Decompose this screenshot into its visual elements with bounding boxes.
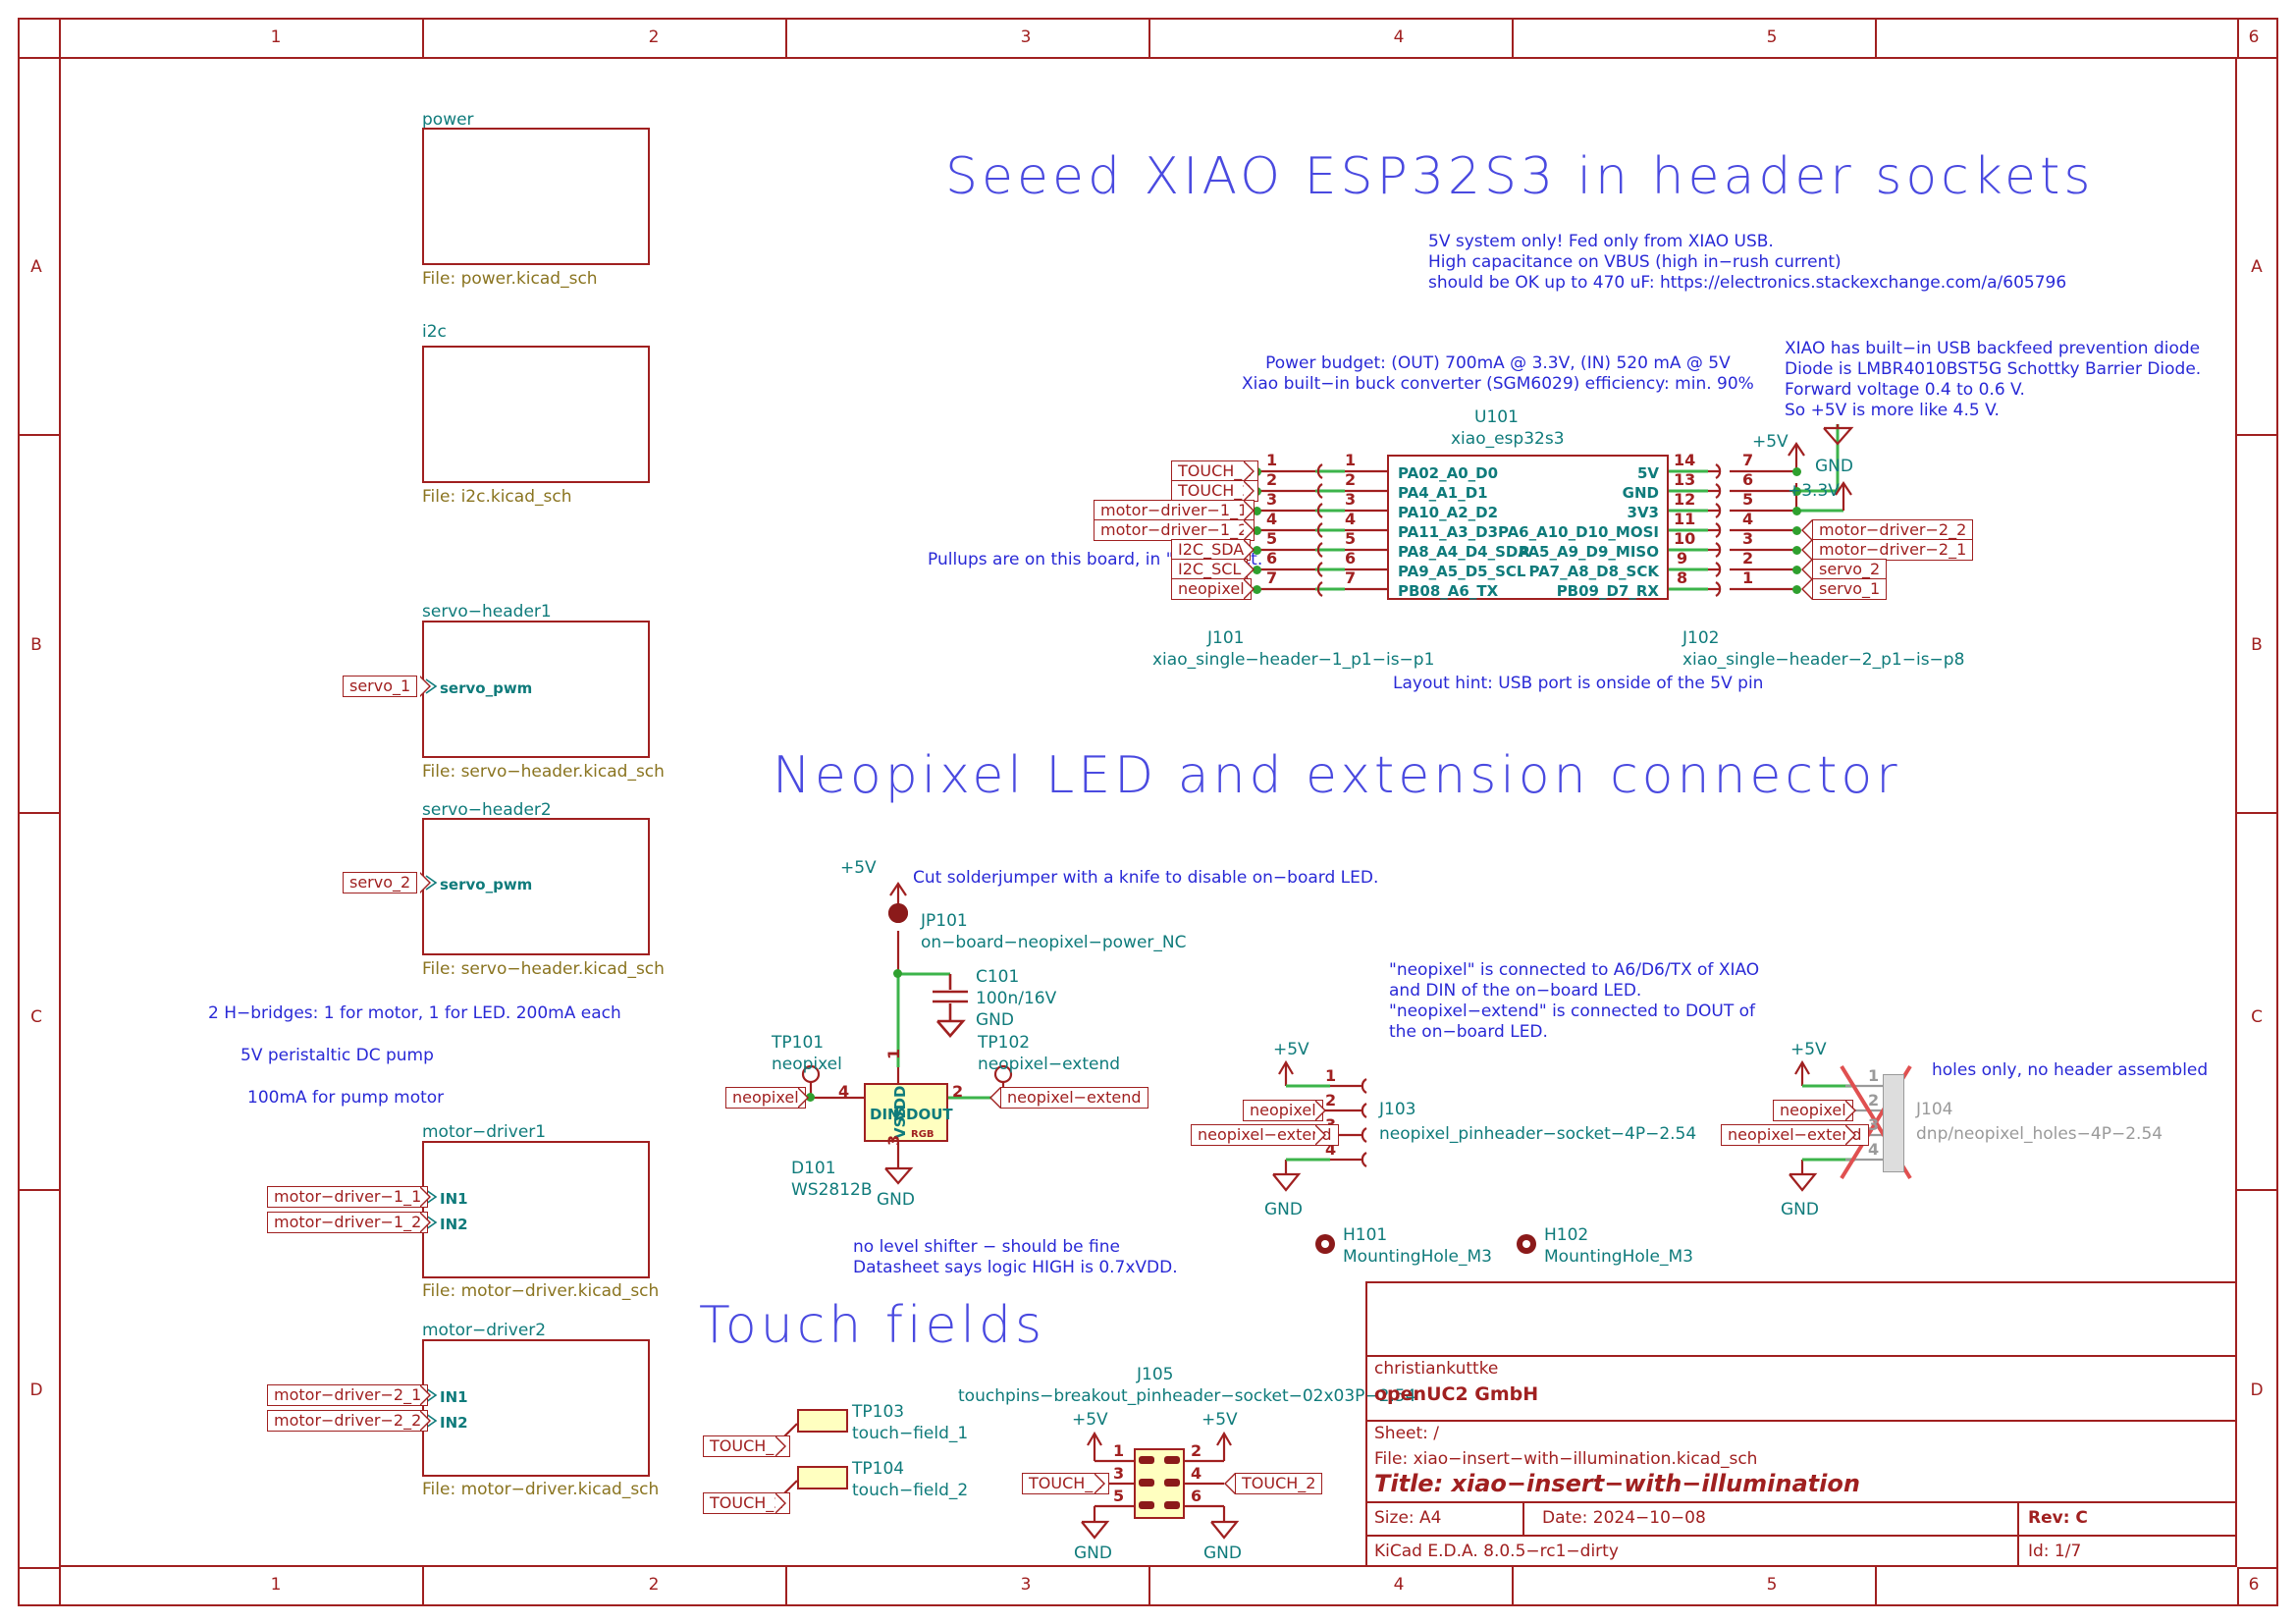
hlabel-motor-driver-1-1[interactable]: motor−driver−1_1 bbox=[267, 1186, 428, 1208]
power-label-5v-neopixel: +5V bbox=[840, 858, 877, 878]
j105-pin-num-6: 6 bbox=[1191, 1487, 1201, 1505]
mounting-hole-h101-icon bbox=[1315, 1234, 1335, 1254]
j105-ref: J105 bbox=[1137, 1365, 1173, 1385]
jp101-ref: JP101 bbox=[921, 911, 968, 932]
glabel-arrow-fill bbox=[1803, 580, 1812, 598]
tp103-ref: TP103 bbox=[852, 1402, 904, 1423]
power-label-5v-u101: +5V bbox=[1752, 432, 1789, 452]
j103-pin-num-2: 2 bbox=[1325, 1091, 1336, 1110]
frame-column-1-bottom: 1 bbox=[263, 1575, 289, 1595]
frame-tick bbox=[2237, 18, 2239, 57]
j103-value: neopixel_pinheader−socket−4P−2.54 bbox=[1379, 1124, 1696, 1145]
glabel-neopixel-j103[interactable]: neopixel bbox=[1243, 1100, 1323, 1121]
glabel-arrow-fill bbox=[1244, 521, 1253, 539]
c101-value: 100n/16V bbox=[976, 989, 1056, 1009]
sheet-pin-in1-md2: IN1 bbox=[440, 1388, 468, 1406]
j104-pin-num-4: 4 bbox=[1868, 1140, 1879, 1159]
u101-pin-num-1: 1 bbox=[1345, 451, 1356, 469]
j104-body[interactable] bbox=[1883, 1074, 1904, 1172]
sheet-pin-servo-pwm-2: servo_pwm bbox=[440, 876, 532, 893]
h102-ref: H102 bbox=[1544, 1225, 1588, 1246]
junction bbox=[893, 969, 902, 978]
j102-pin-num-6: 6 bbox=[1742, 470, 1753, 489]
sheet-label-servo-header1: servo−header1 bbox=[422, 602, 552, 622]
j102-pin-num-2: 2 bbox=[1742, 549, 1753, 568]
junction bbox=[1792, 566, 1801, 574]
glabel-neopixel-in[interactable]: neopixel bbox=[725, 1087, 806, 1109]
frame-tick bbox=[2237, 57, 2278, 59]
frame-tick bbox=[59, 18, 61, 57]
j102-pin-num-5: 5 bbox=[1742, 490, 1753, 509]
hlabel-servo-1[interactable]: servo_1 bbox=[343, 676, 417, 697]
j101-pin-num-1: 1 bbox=[1266, 451, 1277, 469]
power-label-5v-j105-left: +5V bbox=[1072, 1410, 1108, 1430]
glabel-motor-driver-2-1[interactable]: motor−driver−2_1 bbox=[1812, 539, 1973, 561]
j103-ref: J103 bbox=[1379, 1100, 1415, 1120]
frame-column-6-bottom: 6 bbox=[2241, 1575, 2267, 1595]
j101-pin-num-4: 4 bbox=[1266, 510, 1277, 528]
sheet-box-motor-driver1[interactable] bbox=[422, 1141, 650, 1278]
frame-tick bbox=[1875, 1567, 1877, 1606]
title-block-divider bbox=[1365, 1355, 2237, 1357]
frame-tick bbox=[422, 1567, 424, 1606]
j102-pin-num-1: 1 bbox=[1742, 568, 1753, 587]
hlabel-motor-driver-2-2[interactable]: motor−driver−2_2 bbox=[267, 1410, 428, 1432]
hlabel-arrow-fill bbox=[420, 677, 429, 695]
power-label-gnd-j104: GND bbox=[1781, 1200, 1819, 1219]
junction bbox=[1792, 507, 1801, 515]
j105-pin-num-2: 2 bbox=[1191, 1441, 1201, 1460]
frame-tick bbox=[59, 1567, 61, 1606]
note-holes-only: holes only, no header assembled bbox=[1932, 1060, 2208, 1081]
d101-pin-num-1: 1 bbox=[884, 1049, 903, 1059]
title-block-sheet: Sheet: / bbox=[1374, 1424, 1439, 1443]
title-block bbox=[1365, 1281, 2237, 1567]
u101-pin-num-8: 8 bbox=[1677, 568, 1687, 587]
hlabel-servo-2[interactable]: servo_2 bbox=[343, 872, 417, 893]
frame-tick bbox=[18, 434, 59, 436]
sheet-file-servo-header2: File: servo−header.kicad_sch bbox=[422, 959, 665, 979]
j104-pin-num-1: 1 bbox=[1868, 1066, 1879, 1085]
j105-pin-num-5: 5 bbox=[1113, 1487, 1124, 1505]
frame-tick bbox=[18, 812, 59, 814]
d101-pin-vss: VSS bbox=[891, 1104, 909, 1139]
frame-tick bbox=[2237, 1189, 2278, 1191]
heading-neopixel-section: Neopixel LED and extension connector bbox=[773, 746, 1901, 805]
heading-touch-section: Touch fields bbox=[699, 1296, 1045, 1355]
frame-tick bbox=[2237, 812, 2278, 814]
glabel-arrow-fill bbox=[775, 1437, 784, 1455]
j102-value: xiao_single−header−2_p1−is−p8 bbox=[1682, 650, 1964, 671]
u101-pin-name-12: 3V3 bbox=[1374, 504, 1659, 521]
sheet-pin-in2-md2: IN2 bbox=[440, 1414, 468, 1432]
glabel-neopixel-u101[interactable]: neopixel bbox=[1171, 578, 1252, 600]
u101-pin-name-13: GND bbox=[1374, 484, 1659, 502]
glabel-arrow-fill bbox=[798, 1089, 807, 1107]
u101-pin-name-10: PA5_A9_D9_MISO bbox=[1374, 543, 1659, 561]
frame-row-b: B bbox=[24, 635, 49, 655]
j101-pin-num-3: 3 bbox=[1266, 490, 1277, 509]
glabel-servo-1[interactable]: servo_1 bbox=[1812, 578, 1887, 600]
frame-row-c-right: C bbox=[2244, 1007, 2269, 1027]
note-usb-power: 5V system only! Fed only from XIAO USB. … bbox=[1428, 232, 2066, 294]
d101-pin-dout: DOUT bbox=[906, 1106, 953, 1123]
u101-pin-num-9: 9 bbox=[1677, 549, 1687, 568]
d101-rgb-label: RGB bbox=[911, 1129, 934, 1140]
title-block-id: Id: 1/7 bbox=[2028, 1542, 2081, 1561]
frame-row-d-right: D bbox=[2244, 1380, 2269, 1400]
glabel-servo-2[interactable]: servo_2 bbox=[1812, 559, 1887, 580]
note-pump: 5V peristaltic DC pump bbox=[240, 1046, 434, 1066]
frame-tick bbox=[18, 1189, 59, 1191]
frame-column-3-bottom: 3 bbox=[1013, 1575, 1039, 1595]
junction bbox=[1792, 546, 1801, 555]
hlabel-arrow-fill bbox=[420, 874, 429, 892]
sheet-file-motor-driver2: File: motor−driver.kicad_sch bbox=[422, 1480, 659, 1499]
j104-pin-num-2: 2 bbox=[1868, 1091, 1879, 1110]
u101-pin-name-9: PA7_A8_D8_SCK bbox=[1374, 563, 1659, 580]
title-block-eda: KiCad E.D.A. 8.0.5−rc1−dirty bbox=[1374, 1542, 1619, 1561]
glabel-arrow-fill bbox=[1315, 1102, 1324, 1119]
u101-pin-name-11: PA6_A10_D10_MOSI bbox=[1374, 523, 1659, 541]
sheet-box-power[interactable] bbox=[422, 128, 650, 265]
j105-value: touchpins−breakout_pinheader−socket−02x0… bbox=[958, 1386, 1416, 1407]
note-backfeed-diode: XIAO has built−in USB backfeed preventio… bbox=[1785, 339, 2201, 421]
glabel-motor-driver-1-2[interactable]: motor−driver−1_2 bbox=[1094, 519, 1255, 541]
sheet-label-i2c: i2c bbox=[422, 322, 447, 342]
glabel-arrow-fill bbox=[1244, 580, 1253, 598]
hlabel-arrow-fill bbox=[420, 1188, 429, 1206]
c101-gnd: GND bbox=[976, 1010, 1014, 1031]
u101-pin-num-10: 10 bbox=[1674, 529, 1695, 548]
frame-tick bbox=[785, 1567, 787, 1606]
frame-row-c: C bbox=[24, 1007, 49, 1027]
u101-pin-num-7: 7 bbox=[1345, 568, 1356, 587]
note-layout-hint: Layout hint: USB port is onside of the 5… bbox=[1393, 674, 1763, 694]
d101-pin-num-2: 2 bbox=[952, 1082, 963, 1101]
sheet-label-motor-driver1: motor−driver1 bbox=[422, 1122, 546, 1142]
glabel-arrow-fill bbox=[1803, 521, 1812, 539]
title-block-divider bbox=[1365, 1535, 2237, 1537]
power-label-5v-j103: +5V bbox=[1273, 1040, 1309, 1059]
u101-pin-num-11: 11 bbox=[1674, 510, 1695, 528]
glabel-neopixel-j104[interactable]: neopixel bbox=[1773, 1100, 1853, 1121]
glabel-arrow-fill bbox=[1315, 1126, 1324, 1144]
glabel-neopixel-extend-out[interactable]: neopixel−extend bbox=[1000, 1087, 1148, 1109]
glabel-arrow-fill bbox=[1845, 1126, 1854, 1144]
note-h-bridges: 2 H−bridges: 1 for motor, 1 for LED. 200… bbox=[208, 1003, 621, 1024]
sheet-label-power: power bbox=[422, 110, 474, 130]
frame-column-5-bottom: 5 bbox=[1759, 1575, 1785, 1595]
glabel-arrow-fill bbox=[1095, 1475, 1103, 1492]
title-block-rev: Rev: C bbox=[2028, 1508, 2088, 1528]
glabel-motor-driver-2-2[interactable]: motor−driver−2_2 bbox=[1812, 519, 1973, 541]
u101-pin-num-13: 13 bbox=[1674, 470, 1695, 489]
tp102-value: neopixel−extend bbox=[978, 1055, 1120, 1075]
j102-pin-num-4: 4 bbox=[1742, 510, 1753, 528]
title-block-date: Date: 2024−10−08 bbox=[1542, 1508, 1706, 1528]
sheet-file-motor-driver1: File: motor−driver.kicad_sch bbox=[422, 1281, 659, 1301]
power-label-gnd-u101: GND bbox=[1815, 457, 1853, 476]
j104-value: dnp/neopixel_holes−4P−2.54 bbox=[1916, 1124, 2163, 1145]
j105-pin-num-3: 3 bbox=[1113, 1464, 1124, 1483]
frame-tick bbox=[18, 1567, 59, 1569]
junction bbox=[1792, 526, 1801, 535]
j105-pin-num-4: 4 bbox=[1191, 1464, 1201, 1483]
power-label-gnd-j105-left: GND bbox=[1074, 1543, 1112, 1563]
note-pump-current: 100mA for pump motor bbox=[247, 1088, 444, 1109]
glabel-arrow-fill bbox=[991, 1089, 1000, 1107]
tp103-value: touch−field_1 bbox=[852, 1424, 968, 1444]
hlabel-motor-driver-1-2[interactable]: motor−driver−1_2 bbox=[267, 1212, 428, 1233]
u101-pin-name-8: PB09_D7_RX bbox=[1374, 582, 1659, 600]
frame-tick bbox=[1148, 18, 1150, 57]
frame-column-5: 5 bbox=[1759, 27, 1785, 47]
frame-row-a: A bbox=[24, 257, 49, 277]
glabel-i2c-sda[interactable]: I2C_SDA bbox=[1171, 539, 1251, 561]
d101-gnd: GND bbox=[877, 1190, 915, 1211]
u101-ref: U101 bbox=[1474, 407, 1519, 428]
title-block-size: Size: A4 bbox=[1374, 1508, 1441, 1528]
hlabel-arrow-fill bbox=[420, 1214, 429, 1231]
frame-column-2: 2 bbox=[641, 27, 667, 47]
mounting-hole-h102-icon bbox=[1517, 1234, 1536, 1254]
j101-pin-num-7: 7 bbox=[1266, 568, 1277, 587]
j105-body[interactable] bbox=[1134, 1448, 1185, 1519]
j104-pin-num-3: 3 bbox=[1868, 1115, 1879, 1134]
frame-row-d: D bbox=[24, 1380, 49, 1400]
glabel-arrow-fill bbox=[1244, 482, 1253, 500]
title-block-divider bbox=[1365, 1501, 2237, 1503]
sheet-label-servo-header2: servo−header2 bbox=[422, 800, 552, 820]
glabel-motor-driver-1-1[interactable]: motor−driver−1_1 bbox=[1094, 500, 1255, 521]
sheet-box-motor-driver2[interactable] bbox=[422, 1339, 650, 1477]
tp104-ref: TP104 bbox=[852, 1459, 904, 1480]
glabel-arrow-fill bbox=[1803, 541, 1812, 559]
title-block-title: Title: xiao−insert−with−illumination bbox=[1374, 1470, 1860, 1497]
h102-value: MountingHole_M3 bbox=[1544, 1247, 1693, 1268]
frame-column-6: 6 bbox=[2241, 27, 2267, 47]
frame-tick bbox=[2237, 1567, 2239, 1606]
j103-pin-num-1: 1 bbox=[1325, 1066, 1336, 1085]
frame-column-3: 3 bbox=[1013, 27, 1039, 47]
j102-pin-num-7: 7 bbox=[1742, 451, 1753, 469]
title-block-file: File: xiao−insert−with−illumination.kica… bbox=[1374, 1449, 1757, 1469]
kicad-schematic-sheet: 1 2 3 4 5 6 1 2 3 4 5 6 A B C D A B C D … bbox=[0, 0, 2296, 1624]
sheet-label-motor-driver2: motor−driver2 bbox=[422, 1321, 546, 1340]
u101-pin-num-6: 6 bbox=[1345, 549, 1356, 568]
d101-value: WS2812B bbox=[791, 1180, 873, 1201]
title-block-company: openUC2 GmbH bbox=[1374, 1383, 1538, 1405]
frame-tick bbox=[1148, 1567, 1150, 1606]
u101-pin-num-12: 12 bbox=[1674, 490, 1695, 509]
h101-value: MountingHole_M3 bbox=[1343, 1247, 1492, 1268]
tp104-value: touch−field_2 bbox=[852, 1481, 968, 1501]
note-level-shifter: no level shifter − should be fine Datash… bbox=[853, 1237, 1178, 1278]
title-block-divider bbox=[2017, 1501, 2019, 1567]
heading-xiao-section: Seeed XIAO ESP32S3 in header sockets bbox=[945, 147, 2095, 206]
frame-column-4-bottom: 4 bbox=[1386, 1575, 1412, 1595]
tp101-ref: TP101 bbox=[772, 1033, 824, 1054]
title-block-author: christiankuttke bbox=[1374, 1359, 1498, 1379]
u101-pin-name-14: 5V bbox=[1374, 464, 1659, 482]
u101-pin-num-2: 2 bbox=[1345, 470, 1356, 489]
d101-ref: D101 bbox=[791, 1159, 836, 1179]
junction bbox=[1792, 467, 1801, 476]
tp101-value: neopixel bbox=[772, 1055, 842, 1075]
frame-tick bbox=[2237, 1567, 2278, 1569]
sheet-file-power: File: power.kicad_sch bbox=[422, 269, 598, 289]
glabel-arrow-fill bbox=[1226, 1475, 1235, 1492]
power-label-3v3-u101: +3.3V bbox=[1788, 481, 1840, 501]
frame-tick bbox=[1875, 18, 1877, 57]
power-label-5v-j104: +5V bbox=[1790, 1040, 1827, 1059]
note-neopixel-net: "neopixel" is connected to A6/D6/TX of X… bbox=[1389, 960, 1759, 1043]
frame-tick bbox=[1512, 1567, 1514, 1606]
sheet-box-i2c[interactable] bbox=[422, 346, 650, 483]
j101-pin-num-6: 6 bbox=[1266, 549, 1277, 568]
note-power-budget: Power budget: (OUT) 700mA @ 3.3V, (IN) 5… bbox=[1242, 353, 1754, 395]
note-solderjumper: Cut solderjumper with a knife to disable… bbox=[913, 868, 1378, 889]
d101-pin-num-4: 4 bbox=[838, 1082, 849, 1101]
glabel-arrow-fill bbox=[1244, 541, 1253, 559]
glabel-arrow-fill bbox=[1244, 502, 1253, 519]
u101-pin-num-3: 3 bbox=[1345, 490, 1356, 509]
glabel-arrow-fill bbox=[1244, 561, 1253, 578]
tp103-pad[interactable] bbox=[797, 1409, 848, 1433]
u101-pin-num-14: 14 bbox=[1674, 451, 1695, 469]
c101-ref: C101 bbox=[976, 967, 1019, 988]
power-label-5v-j105-right: +5V bbox=[1201, 1410, 1238, 1430]
jp101-value: on−board−neopixel−power_NC bbox=[921, 933, 1187, 953]
j101-pin-num-2: 2 bbox=[1266, 470, 1277, 489]
glabel-arrow-fill bbox=[1845, 1102, 1854, 1119]
title-block-divider bbox=[1365, 1420, 2237, 1422]
sheet-file-servo-header1: File: servo−header.kicad_sch bbox=[422, 762, 665, 782]
h101-ref: H101 bbox=[1343, 1225, 1387, 1246]
hlabel-arrow-fill bbox=[420, 1386, 429, 1404]
frame-column-1: 1 bbox=[263, 27, 289, 47]
tp104-pad[interactable] bbox=[797, 1466, 848, 1489]
frame-tick bbox=[422, 18, 424, 57]
hlabel-motor-driver-2-1[interactable]: motor−driver−2_1 bbox=[267, 1384, 428, 1406]
glabel-arrow-fill bbox=[775, 1494, 784, 1512]
frame-tick bbox=[1512, 18, 1514, 57]
frame-column-2-bottom: 2 bbox=[641, 1575, 667, 1595]
j102-pin-num-3: 3 bbox=[1742, 529, 1753, 548]
j104-ref: J104 bbox=[1916, 1100, 1952, 1120]
sheet-file-i2c: File: i2c.kicad_sch bbox=[422, 487, 571, 507]
tp102-ref: TP102 bbox=[978, 1033, 1030, 1054]
j101-ref: J101 bbox=[1207, 628, 1244, 649]
glabel-i2c-scl[interactable]: I2C_SCL bbox=[1171, 559, 1248, 580]
hlabel-arrow-fill bbox=[420, 1412, 429, 1430]
j101-pin-num-5: 5 bbox=[1266, 529, 1277, 548]
frame-column-4: 4 bbox=[1386, 27, 1412, 47]
frame-row-b-right: B bbox=[2244, 635, 2269, 655]
sheet-pin-in2-md1: IN2 bbox=[440, 1216, 468, 1233]
sheet-pin-servo-pwm-1: servo_pwm bbox=[440, 679, 532, 697]
sheet-pin-in1-md1: IN1 bbox=[440, 1190, 468, 1208]
power-label-gnd-j105-right: GND bbox=[1203, 1543, 1242, 1563]
title-block-divider bbox=[1522, 1501, 1524, 1535]
j105-pin-num-1: 1 bbox=[1113, 1441, 1124, 1460]
junction bbox=[1792, 585, 1801, 594]
frame-tick bbox=[785, 18, 787, 57]
j102-ref: J102 bbox=[1682, 628, 1719, 649]
u101-value: xiao_esp32s3 bbox=[1451, 429, 1565, 450]
frame-tick bbox=[2237, 434, 2278, 436]
frame-row-a-right: A bbox=[2244, 257, 2269, 277]
glabel-arrow-fill bbox=[1244, 462, 1253, 480]
power-label-gnd-j103: GND bbox=[1264, 1200, 1303, 1219]
d101-pin-num-3: 3 bbox=[884, 1135, 903, 1146]
u101-pin-num-5: 5 bbox=[1345, 529, 1356, 548]
u101-pin-num-4: 4 bbox=[1345, 510, 1356, 528]
frame-tick bbox=[18, 57, 59, 59]
j101-value: xiao_single−header−1_p1−is−p1 bbox=[1152, 650, 1434, 671]
glabel-touch-2-j105[interactable]: TOUCH_2 bbox=[1235, 1473, 1322, 1494]
glabel-arrow-fill bbox=[1803, 561, 1812, 578]
